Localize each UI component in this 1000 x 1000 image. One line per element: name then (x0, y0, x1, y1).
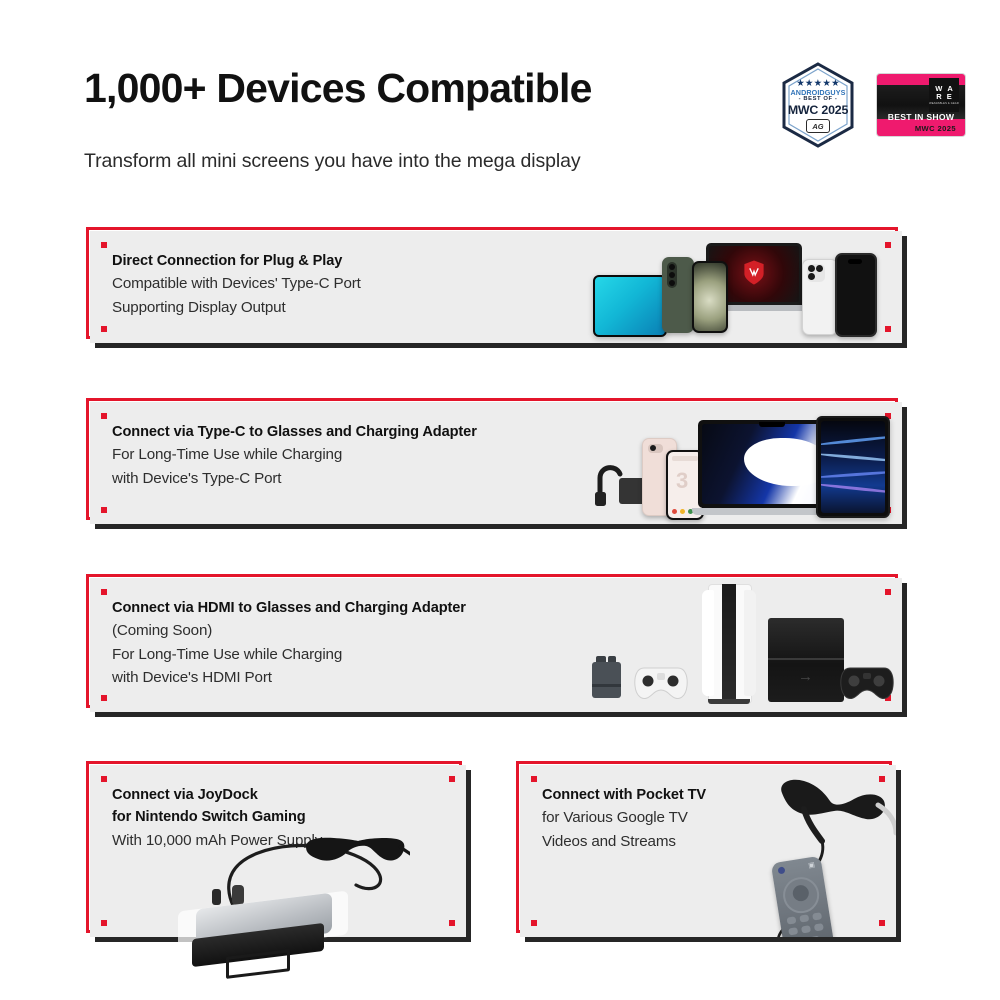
joydock-icon (178, 883, 388, 963)
card-body: Direct Connection for Plug & Play Compat… (90, 231, 902, 343)
corner-marker (101, 920, 107, 926)
award-badges: ★★★★★ ANDROIDGUYS - BEST OF - MWC 2025 A… (781, 62, 965, 148)
card-line: with Device's Type-C Port (112, 467, 477, 491)
corner-marker (101, 413, 107, 419)
card-heading: Connect with Pocket TV (542, 784, 706, 806)
ware-logo-subtitle: WEARABLES & GEAR (929, 102, 959, 105)
compatibility-page: 1,000+ Devices Compatible Transform all … (0, 0, 1000, 1000)
device-artwork-hdmi: → (570, 578, 902, 712)
corner-marker (101, 589, 107, 595)
card-body: Connect via Type-C to Glasses and Chargi… (90, 402, 902, 524)
ps4-console-icon: → (768, 618, 844, 702)
card-text-block: Direct Connection for Plug & Play Compat… (112, 250, 361, 319)
card-heading: Connect via HDMI to Glasses and Charging… (112, 597, 466, 619)
card-text-block: Connect with Pocket TV for Various Googl… (542, 784, 706, 853)
card-heading: for Nintendo Switch Gaming (112, 806, 322, 828)
ps5-console-icon (698, 584, 760, 702)
card-body: Connect via HDMI to Glasses and Charging… (90, 578, 902, 712)
corner-marker (531, 920, 537, 926)
android-phone-front-icon (692, 261, 728, 333)
device-artwork-direct-connection (590, 231, 902, 343)
iphone-back-icon (802, 259, 838, 335)
dualshock-controller-icon (838, 664, 896, 702)
card-pocket-tv: Connect with Pocket TV for Various Googl… (520, 765, 896, 937)
card-body: Connect with Pocket TV for Various Googl… (520, 765, 896, 937)
device-artwork-pocket-tv: ▣ (760, 775, 896, 937)
tablet-icon (593, 275, 667, 337)
card-heading: Direct Connection for Plug & Play (112, 250, 361, 272)
ipad-pro-icon (816, 416, 890, 518)
ar-glasses-icon (300, 833, 410, 879)
corner-marker (101, 326, 107, 332)
card-line: (Coming Soon) (112, 619, 466, 643)
card-joydock-switch: Connect via JoyDock for Nintendo Switch … (90, 765, 466, 937)
card-line: Videos and Streams (542, 830, 706, 854)
card-heading: Connect via Type-C to Glasses and Chargi… (112, 421, 477, 443)
card-line: For Long-Time Use while Charging (112, 643, 466, 667)
ware-award-badge: W A R E WEARABLES & GEAR BEST IN SHOW MW… (877, 74, 965, 136)
hdmi-adapter-icon (592, 656, 622, 698)
type-c-adapter-icon (586, 454, 650, 508)
badge-event: MWC 2025 (788, 104, 848, 116)
corner-marker (101, 695, 107, 701)
card-line: with Device's HDMI Port (112, 666, 466, 690)
corner-marker (101, 776, 107, 782)
card-line: Supporting Display Output (112, 296, 361, 320)
corner-marker (101, 242, 107, 248)
card-text-block: Connect via HDMI to Glasses and Charging… (112, 597, 466, 690)
device-artwork-joydock (150, 833, 470, 963)
card-line: Compatible with Devices' Type-C Port (112, 272, 361, 296)
card-line: for Various Google TV (542, 806, 706, 830)
badge-brand: ANDROIDGUYS (790, 89, 845, 96)
androidguys-award-badge: ★★★★★ ANDROIDGUYS - BEST OF - MWC 2025 A… (781, 62, 855, 148)
dualsense-controller-icon (632, 664, 690, 702)
ware-letter-e: E (947, 93, 952, 101)
card-text-block: Connect via Type-C to Glasses and Chargi… (112, 421, 477, 490)
badge-stars: ★★★★★ (796, 79, 840, 89)
ware-logo: W A R E WEARABLES & GEAR (929, 78, 959, 112)
androidguys-logo: AG (806, 119, 830, 133)
corner-marker (449, 776, 455, 782)
card-heading: Connect via JoyDock (112, 784, 322, 806)
card-line: For Long-Time Use while Charging (112, 443, 477, 467)
ware-letter-r: R (936, 93, 941, 101)
card-type-c-adapter: Connect via Type-C to Glasses and Chargi… (90, 402, 902, 524)
corner-marker (531, 776, 537, 782)
ware-event: MWC 2025 (877, 124, 965, 133)
device-artwork-type-c: 3 (580, 402, 902, 524)
card-direct-connection: Direct Connection for Plug & Play Compat… (90, 231, 902, 343)
iphone-front-icon (835, 253, 877, 337)
ware-award-label: BEST IN SHOW (877, 112, 965, 122)
android-phone-back-icon (662, 257, 694, 333)
corner-marker (101, 507, 107, 513)
card-hdmi-adapter: Connect via HDMI to Glasses and Charging… (90, 578, 902, 712)
